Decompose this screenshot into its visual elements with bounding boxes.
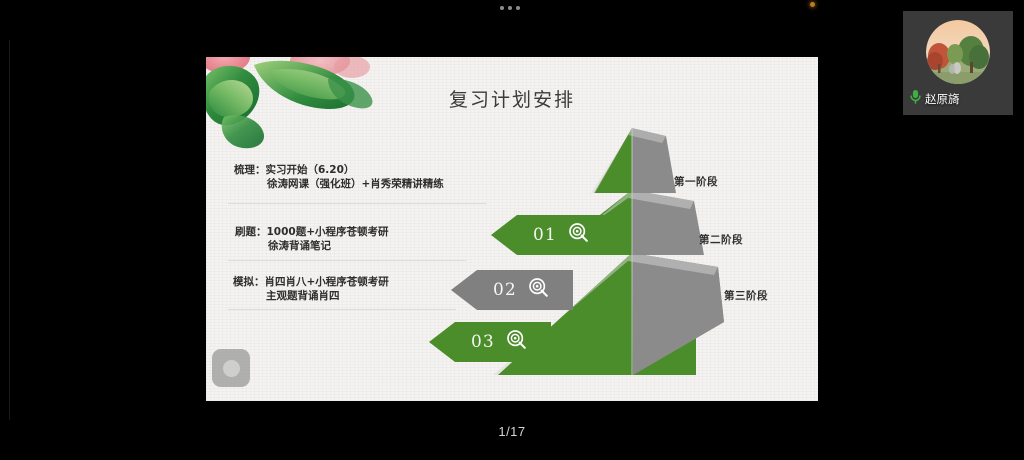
laser-pointer-icon[interactable] — [212, 349, 250, 387]
ribbon-banner-03: 03 — [429, 322, 551, 362]
laser-pointer-dot — [223, 360, 240, 377]
stage-label-2: 第二阶段 — [699, 232, 743, 247]
text-block-1: 梳理：实习开始（6.20） 徐涛网课（强化班）+肖秀荣精讲精练 — [234, 163, 444, 191]
recording-dot-icon — [810, 2, 815, 7]
stage-label-1: 第一阶段 — [674, 174, 718, 189]
text-block-2: 刷题：1000题+小程序苍顿考研 徐涛背诵笔记 — [235, 225, 389, 253]
ribbon-number: 03 — [471, 332, 495, 352]
text-line: 模拟：肖四肖八+小程序苍顿考研 — [233, 275, 389, 289]
text-line: 主观题背诵肖四 — [233, 289, 389, 303]
ribbon-banner-02: 02 — [451, 270, 573, 310]
text-line: 徐涛背诵笔记 — [235, 239, 389, 253]
ribbon-banner-01: 01 — [491, 215, 613, 255]
left-edge-divider — [9, 40, 10, 420]
ribbon-number: 01 — [533, 225, 557, 245]
text-line: 梳理：实习开始（6.20） — [234, 163, 444, 177]
participant-name: 赵原旖 — [925, 91, 960, 107]
microphone-icon — [909, 89, 922, 109]
participant-tile[interactable]: 赵原旖 — [903, 11, 1013, 115]
top-bar — [0, 0, 1024, 22]
separator-line — [228, 309, 456, 310]
participant-nameplate: 赵原旖 — [909, 89, 960, 109]
separator-line — [228, 260, 466, 261]
page-indicator: 1/17 — [0, 424, 1024, 439]
avatar — [926, 20, 990, 84]
text-block-3: 模拟：肖四肖八+小程序苍顿考研 主观题背诵肖四 — [233, 275, 389, 303]
target-search-icon — [568, 222, 589, 248]
meeting-screen-share-view: 复习计划安排 — [0, 0, 1024, 460]
ribbon-number: 02 — [493, 280, 517, 300]
target-search-icon — [506, 329, 527, 355]
text-line: 徐涛网课（强化班）+肖秀荣精讲精练 — [234, 177, 444, 191]
target-search-icon — [528, 277, 549, 303]
stage-label-3: 第三阶段 — [724, 288, 768, 303]
more-horizontal-icon[interactable] — [500, 6, 520, 10]
separator-line — [228, 203, 486, 204]
text-line: 刷题：1000题+小程序苍顿考研 — [235, 225, 389, 239]
shared-slide[interactable]: 复习计划安排 — [206, 57, 818, 401]
